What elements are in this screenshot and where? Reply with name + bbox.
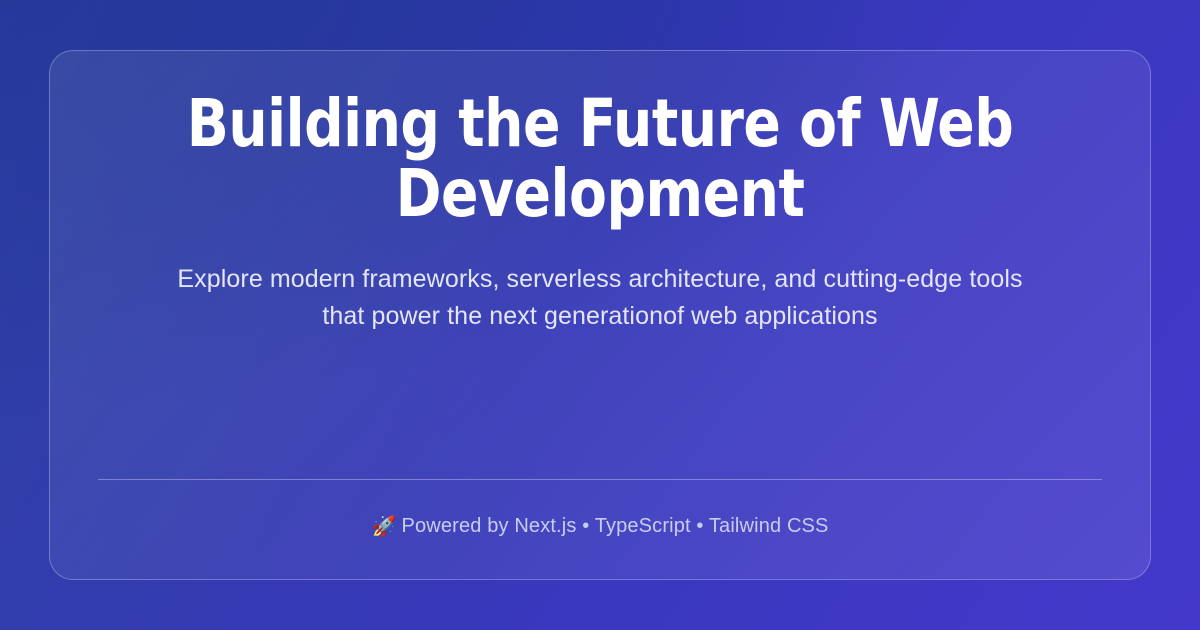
page-subtitle: Explore modern frameworks, serverless ar…: [160, 261, 1040, 335]
rocket-icon: 🚀: [371, 514, 396, 538]
footer-tech-stack-label: Powered by Next.js • TypeScript • Tailwi…: [402, 515, 829, 537]
og-image-canvas: Building the Future of Web Development E…: [0, 0, 1200, 630]
footer-divider: [98, 479, 1102, 480]
page-title: Building the Future of Web Development: [182, 89, 1019, 229]
content-panel: Building the Future of Web Development E…: [49, 50, 1151, 580]
footer-tech-stack: 🚀Powered by Next.js • TypeScript • Tailw…: [50, 513, 1150, 579]
